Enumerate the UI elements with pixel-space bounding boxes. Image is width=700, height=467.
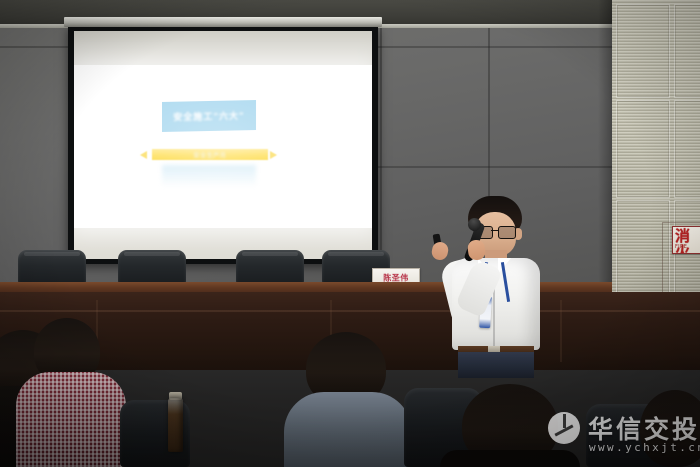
slide-arrow-right-icon bbox=[270, 151, 277, 159]
attendee-blue-shirt bbox=[284, 392, 412, 467]
presenter-trousers bbox=[458, 352, 534, 378]
slide-subtitle-bar: 安全生产月 bbox=[152, 149, 268, 160]
slide-arrow-left-icon bbox=[140, 151, 147, 159]
stage-chair bbox=[18, 250, 86, 284]
stage-chair bbox=[118, 250, 186, 284]
water-bottle bbox=[168, 398, 183, 452]
slide-title-banner: 安全施工"六大" bbox=[162, 100, 256, 132]
screen-surface: 安全施工"六大" 安全生产月 bbox=[74, 31, 372, 259]
watermark: 华信交投 www.ychxjt.cn bbox=[548, 408, 696, 460]
glasses-bridge bbox=[491, 230, 498, 231]
stage-chair bbox=[236, 250, 304, 284]
slide-title-text: 安全施工"六大" bbox=[173, 109, 244, 123]
projection-screen: 安全施工"六大" 安全生产月 bbox=[68, 26, 378, 264]
slide-subtitle-text: 安全生产月 bbox=[193, 150, 226, 159]
projected-slide: 安全施工"六大" 安全生产月 bbox=[74, 65, 372, 228]
louver-frame bbox=[616, 100, 670, 198]
desk-panel-line bbox=[560, 300, 562, 362]
louver-frame bbox=[674, 4, 700, 98]
photo-canvas: 消火 FIRE 安全施工"六大" 安全生产月 陈圣 bbox=[0, 0, 700, 467]
fire-sign-label-en: FIRE bbox=[675, 244, 687, 250]
watermark-url: www.ychxjt.cn bbox=[589, 441, 700, 454]
louver-frame bbox=[616, 4, 670, 98]
fire-safety-sign: 消火 FIRE bbox=[672, 226, 700, 254]
attendee-check-shirt bbox=[16, 372, 126, 467]
desk-groove bbox=[0, 310, 700, 312]
slide-reflection bbox=[162, 165, 256, 187]
louvered-beige-panel bbox=[612, 0, 700, 318]
fire-sign-label-cn: 消火 bbox=[675, 228, 700, 254]
louver-frame bbox=[674, 100, 700, 198]
presenter bbox=[430, 196, 560, 374]
screen-casing bbox=[64, 17, 382, 27]
company-logo-icon bbox=[548, 412, 580, 444]
presenter-hand-far bbox=[430, 241, 449, 262]
glasses-lens-right bbox=[498, 226, 516, 239]
